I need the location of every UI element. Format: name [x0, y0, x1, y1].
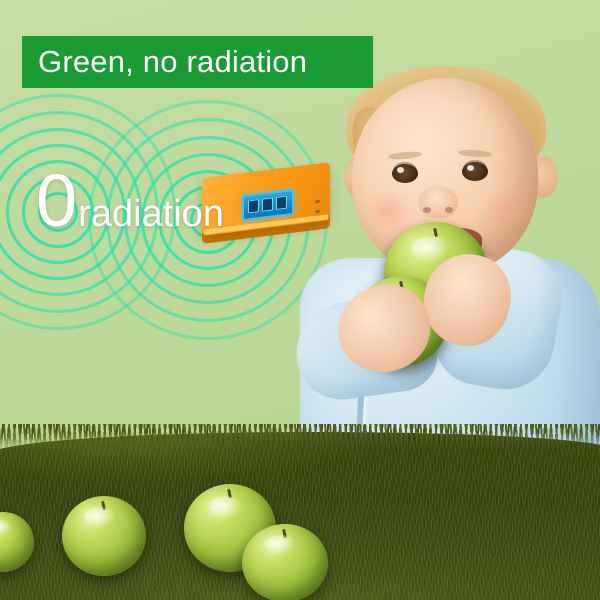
grass-highlight [0, 432, 600, 502]
grass-apple-3 [242, 524, 328, 600]
zero-glyph: 0 [36, 166, 76, 236]
baby-cheek-left [362, 192, 414, 232]
baby-nose [418, 186, 458, 218]
radiation-label: radiation [78, 195, 224, 233]
baby-cheek-right [482, 190, 534, 230]
headline-text: Green, no radiation [22, 44, 307, 80]
baby-eye-right [462, 162, 488, 181]
promo-banner-image: 0 radiation [0, 0, 600, 600]
baby-eye-left [392, 164, 418, 183]
headline-banner: Green, no radiation [22, 36, 373, 88]
zero-radiation-text: 0 radiation [36, 166, 224, 236]
grass-apple-1 [62, 496, 146, 576]
